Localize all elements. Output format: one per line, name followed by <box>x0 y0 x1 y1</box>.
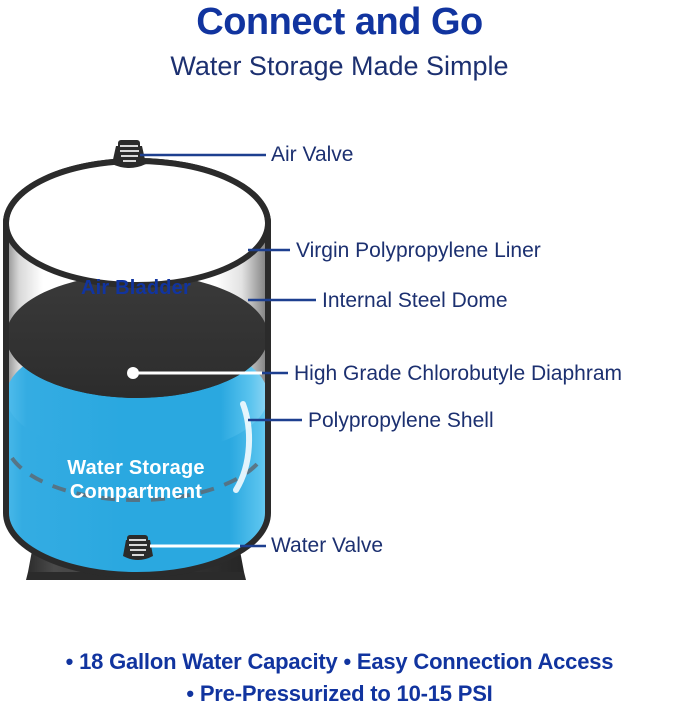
page-title: Connect and Go <box>0 0 679 44</box>
callout-polypropylene-shell: Polypropylene Shell <box>308 409 494 433</box>
footer-features-line-2: • Pre-Pressurized to 10-15 PSI <box>0 680 679 708</box>
footer-features-line-1: • 18 Gallon Water Capacity • Easy Connec… <box>0 648 679 676</box>
callout-air-valve: Air Valve <box>271 143 353 167</box>
callout-virgin-polypropylene-liner: Virgin Polypropylene Liner <box>296 239 541 263</box>
tank-label-water-compartment-line2: Compartment <box>0 480 272 504</box>
tank-label-air-bladder: Air Bladder <box>0 277 272 300</box>
tank-body <box>0 161 280 596</box>
callout-water-valve: Water Valve <box>271 534 383 558</box>
infographic-root: Connect and Go Water Storage Made Simple <box>0 0 679 714</box>
tank-label-water-compartment: Water Storage Compartment <box>0 456 272 504</box>
callout-high-grade-chlorobutyle-diaphram: High Grade Chlorobutyle Diaphram <box>294 362 622 386</box>
callout-internal-steel-dome: Internal Steel Dome <box>322 289 508 313</box>
page-subtitle: Water Storage Made Simple <box>0 50 679 82</box>
tank-label-water-compartment-line1: Water Storage <box>0 456 272 480</box>
